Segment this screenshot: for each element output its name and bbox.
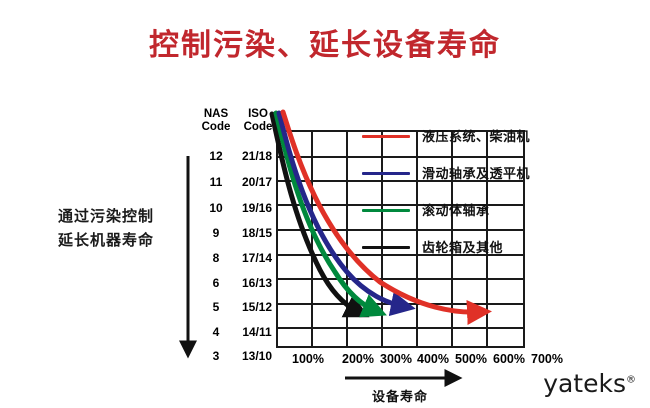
iso-tick-label: 14/11 — [234, 326, 280, 338]
grid-line-horizontal — [278, 327, 523, 329]
nas-tick-label: 8 — [196, 252, 236, 264]
brand-logo: yateks® — [543, 369, 636, 398]
nas-code-header-line-2: Code — [196, 121, 236, 134]
legend-label: 滑动轴承及透平机 — [422, 163, 530, 182]
x-tick-label: 700% — [525, 352, 569, 366]
brand-logo-text: yateks — [543, 369, 626, 398]
iso-tick-label: 13/10 — [234, 350, 280, 362]
line-swatch-red-icon — [362, 135, 410, 138]
nas-tick-label: 6 — [196, 277, 236, 289]
x-axis-caption: 设备寿命 — [330, 386, 470, 405]
iso-code-header-line-2: Code — [236, 121, 280, 134]
legend-item-rolling-bearing: 滚动体轴承 — [362, 200, 522, 237]
iso-tick-label: 15/12 — [234, 301, 280, 313]
legend-label: 液压系统、柴油机 — [422, 126, 530, 145]
legend-item-gearbox: 齿轮箱及其他 — [362, 237, 522, 274]
nas-tick-label: 4 — [196, 326, 236, 338]
left-caption-line-1: 通过污染控制 — [36, 205, 176, 229]
iso-tick-label: 18/15 — [234, 227, 280, 239]
line-swatch-green-icon — [362, 209, 410, 212]
nas-code-header-line-1: NAS — [196, 108, 236, 121]
left-caption-line-2: 延长机器寿命 — [36, 229, 176, 253]
nas-tick-label: 5 — [196, 301, 236, 313]
chart-legend: 液压系统、柴油机 滑动轴承及透平机 滚动体轴承 齿轮箱及其他 — [362, 126, 522, 274]
registered-mark-icon: ® — [626, 375, 636, 386]
page-title: 控制污染、延长设备寿命 — [0, 20, 650, 64]
legend-label: 齿轮箱及其他 — [422, 237, 503, 256]
left-caption: 通过污染控制 延长机器寿命 — [36, 205, 176, 253]
legend-item-hydraulic-diesel: 液压系统、柴油机 — [362, 126, 522, 163]
grid-line-vertical — [346, 132, 348, 346]
nas-tick-label: 10 — [196, 202, 236, 214]
iso-tick-label: 16/13 — [234, 277, 280, 289]
nas-tick-label: 11 — [196, 176, 236, 188]
legend-item-journal-bearing: 滑动轴承及透平机 — [362, 163, 522, 200]
legend-label: 滚动体轴承 — [422, 200, 490, 219]
nas-tick-label: 9 — [196, 227, 236, 239]
line-swatch-black-icon — [362, 246, 410, 249]
iso-code-header: ISO Code — [236, 108, 280, 134]
grid-line-horizontal — [278, 303, 523, 305]
grid-line-horizontal — [278, 278, 523, 280]
slide-canvas: 控制污染、延长设备寿命 通过污染控制 延长机器寿命 NAS Code ISO C… — [0, 0, 650, 408]
iso-tick-label: 17/14 — [234, 252, 280, 264]
nas-tick-label: 12 — [196, 150, 236, 162]
iso-tick-label: 21/18 — [234, 150, 280, 162]
iso-tick-label: 20/17 — [234, 176, 280, 188]
grid-line-vertical — [311, 132, 313, 346]
nas-code-header: NAS Code — [196, 108, 236, 134]
x-tick-label: 100% — [286, 352, 330, 366]
line-swatch-blue-icon — [362, 172, 410, 175]
nas-tick-label: 3 — [196, 350, 236, 362]
iso-code-header-line-1: ISO — [236, 108, 280, 121]
iso-tick-label: 19/16 — [234, 202, 280, 214]
